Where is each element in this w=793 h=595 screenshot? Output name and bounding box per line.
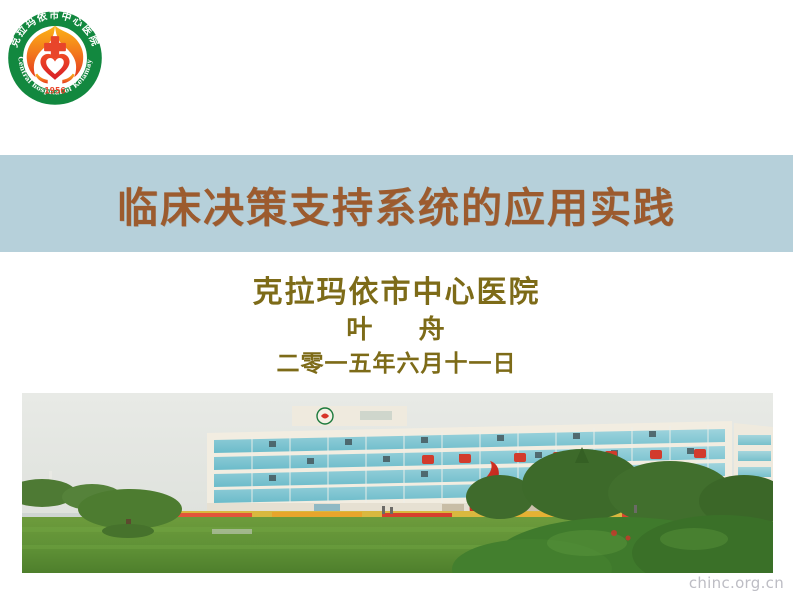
presenter-name: 叶 舟 bbox=[0, 314, 793, 347]
hospital-building-photo bbox=[22, 393, 773, 573]
hospital-logo: 克拉玛依市中心医院 Central hospital of Kelamayi 1… bbox=[3, 6, 107, 110]
logo-year-text: 1956 bbox=[44, 86, 65, 96]
site-watermark: chinc.org.cn bbox=[689, 574, 784, 592]
slide-title: 临床决策支持系统的应用实践 bbox=[117, 174, 676, 234]
hospital-emblem-icon: 克拉玛依市中心医院 Central hospital of Kelamayi 1… bbox=[3, 6, 107, 110]
organization-name: 克拉玛依市中心医院 bbox=[0, 275, 793, 310]
hospital-photo-illustration bbox=[22, 393, 773, 573]
title-band: 临床决策支持系统的应用实践 bbox=[0, 155, 793, 252]
presentation-slide: 克拉玛依市中心医院 Central hospital of Kelamayi 1… bbox=[0, 0, 793, 595]
subtitle-block: 克拉玛依市中心医院 叶 舟 二零一五年六月十一日 bbox=[0, 275, 793, 379]
presentation-date: 二零一五年六月十一日 bbox=[0, 350, 793, 379]
